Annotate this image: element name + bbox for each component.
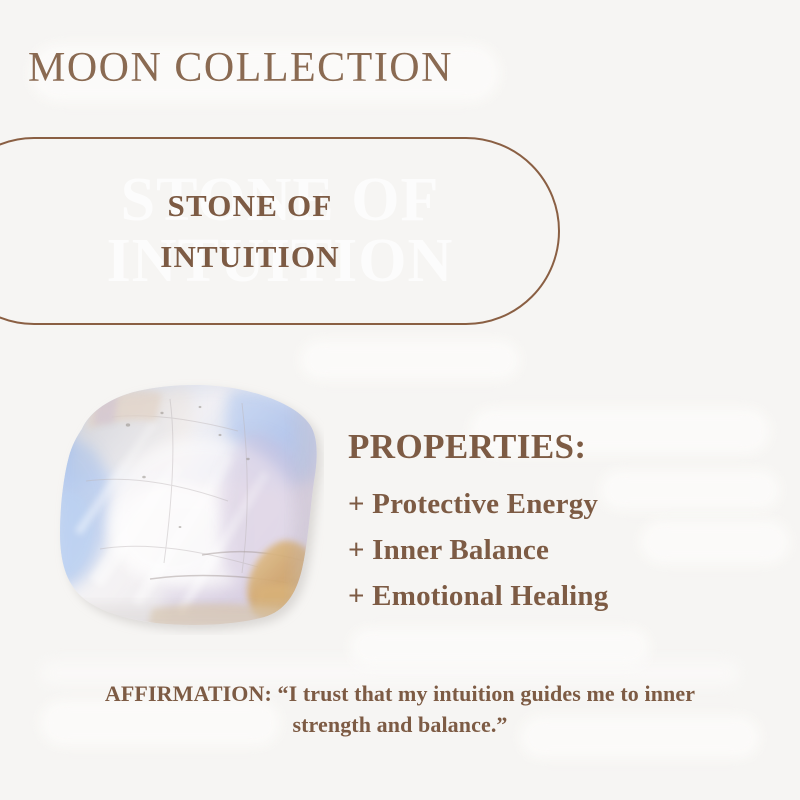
moonstone-image	[52, 373, 324, 635]
affirmation-block: AFFIRMATION: “I trust that my intuition …	[30, 678, 770, 740]
badge-line-2: INTUITION	[160, 231, 340, 282]
property-item-3: + Emotional Healing	[348, 573, 608, 619]
affirmation-line-1: AFFIRMATION: “I trust that my intuition …	[30, 678, 770, 709]
page-title: MOON COLLECTION	[28, 46, 453, 90]
properties-section: PROPERTIES: + Protective Energy + Inner …	[348, 427, 608, 619]
property-item-2: + Inner Balance	[348, 527, 608, 573]
property-item-1: + Protective Energy	[348, 481, 608, 527]
badge-text: STONE OF INTUITION	[0, 141, 500, 321]
badge-line-1: STONE OF	[168, 180, 333, 231]
properties-title: PROPERTIES:	[348, 427, 608, 467]
stone-name-badge: STONE OF INTUITION STONE OF INTUITION	[0, 137, 560, 325]
properties-list: + Protective Energy + Inner Balance + Em…	[348, 481, 608, 619]
crystal-info-card: MOON COLLECTION STONE OF INTUITION STONE…	[0, 0, 800, 800]
affirmation-line-2: strength and balance.”	[30, 709, 770, 740]
